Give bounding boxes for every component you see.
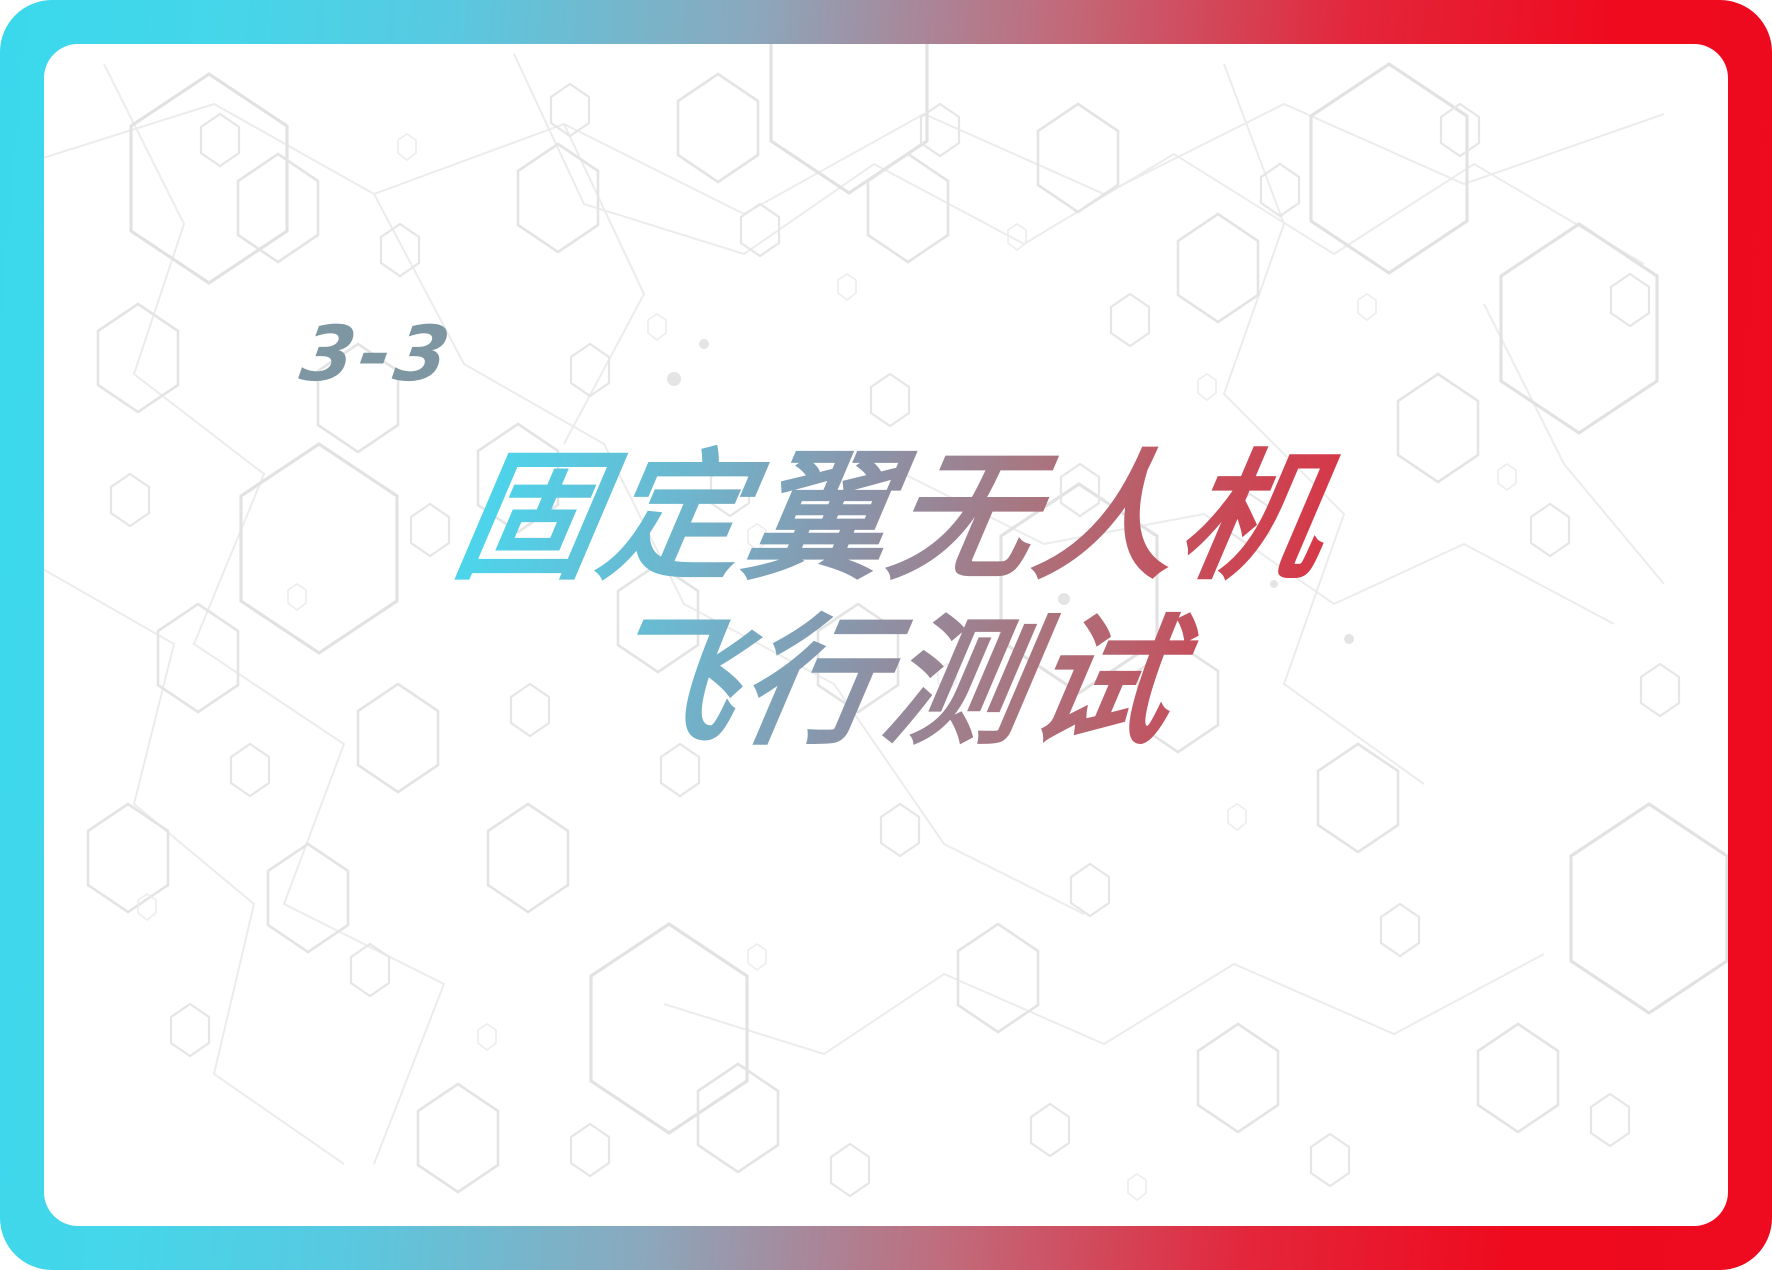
title-line-1: 固定翼无人机	[44, 436, 1728, 601]
section-number: 3-3	[296, 316, 459, 392]
title-line-2: 飞行测试	[44, 601, 1728, 766]
slide-title: 固定翼无人机 飞行测试	[44, 436, 1728, 766]
slide-white-card: 3-3 固定翼无人机 飞行测试	[44, 44, 1728, 1226]
slide-gradient-frame: 3-3 固定翼无人机 飞行测试	[0, 0, 1772, 1270]
